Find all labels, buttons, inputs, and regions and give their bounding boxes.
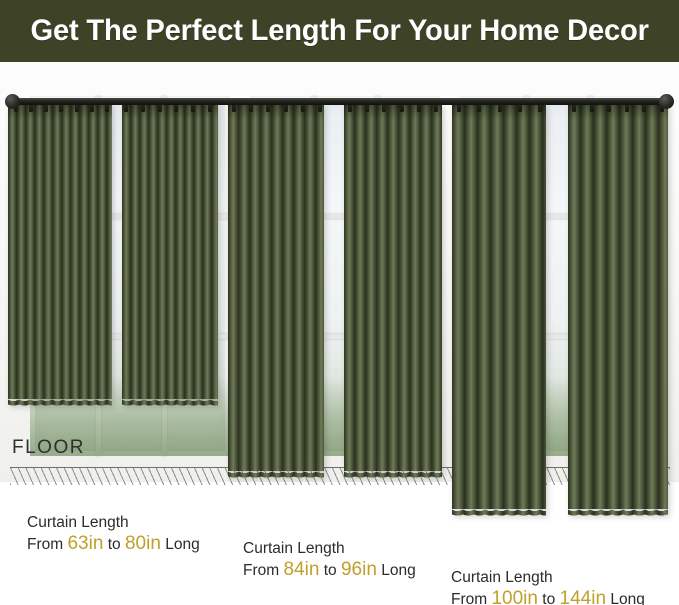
header-banner: Get The Perfect Length For Your Home Dec… bbox=[0, 0, 679, 62]
caption-short-from-word: From bbox=[27, 536, 63, 553]
caption-long-range: From 100in to 144in Long bbox=[451, 588, 645, 605]
caption-medium-from-word: From bbox=[243, 562, 279, 579]
rod-finial-right-icon bbox=[659, 94, 674, 109]
rod-finial-left-icon bbox=[5, 94, 20, 109]
curtain-panel-short-left bbox=[8, 104, 112, 399]
caption-medium-to-value: 96in bbox=[341, 559, 377, 580]
curtain-hem bbox=[568, 500, 668, 518]
page-title: Get The Perfect Length For Your Home Dec… bbox=[30, 14, 648, 48]
curtain-panel-long-left bbox=[452, 104, 546, 509]
curtain-panel-long-right bbox=[568, 104, 668, 509]
caption-short-title: Curtain Length bbox=[27, 512, 200, 533]
caption-medium: Curtain Length From 84in to 96in Long bbox=[243, 538, 416, 581]
caption-short-long-word: Long bbox=[165, 536, 199, 553]
curtain-rod bbox=[8, 98, 671, 105]
floor-label: FLOOR bbox=[12, 437, 85, 459]
caption-medium-long-word: Long bbox=[381, 562, 415, 579]
curtain-panel-medium-left bbox=[228, 104, 324, 471]
caption-short-to-value: 80in bbox=[125, 533, 161, 554]
caption-long-to-word: to bbox=[542, 591, 555, 605]
caption-long-long-word: Long bbox=[610, 591, 644, 605]
caption-short: Curtain Length From 63in to 80in Long bbox=[27, 512, 200, 555]
caption-medium-from-value: 84in bbox=[283, 559, 319, 580]
caption-long-from-word: From bbox=[451, 591, 487, 605]
caption-long-from-value: 100in bbox=[491, 588, 538, 605]
caption-short-from-value: 63in bbox=[67, 533, 103, 554]
curtain-scene: FLOOR bbox=[0, 62, 679, 605]
caption-long: Curtain Length From 100in to 144in Long bbox=[451, 567, 645, 605]
caption-medium-to-word: to bbox=[324, 562, 337, 579]
caption-medium-range: From 84in to 96in Long bbox=[243, 559, 416, 581]
curtain-hem bbox=[344, 462, 442, 480]
caption-medium-title: Curtain Length bbox=[243, 538, 416, 559]
caption-short-to-word: to bbox=[108, 536, 121, 553]
curtain-hem bbox=[122, 390, 218, 408]
curtain-hem bbox=[452, 500, 546, 518]
caption-short-range: From 63in to 80in Long bbox=[27, 533, 200, 555]
curtain-panel-short-right bbox=[122, 104, 218, 399]
caption-long-title: Curtain Length bbox=[451, 567, 645, 588]
curtain-panel-medium-right bbox=[344, 104, 442, 471]
caption-long-to-value: 144in bbox=[560, 588, 607, 605]
curtain-hem bbox=[8, 390, 112, 408]
curtain-hem bbox=[228, 462, 324, 480]
